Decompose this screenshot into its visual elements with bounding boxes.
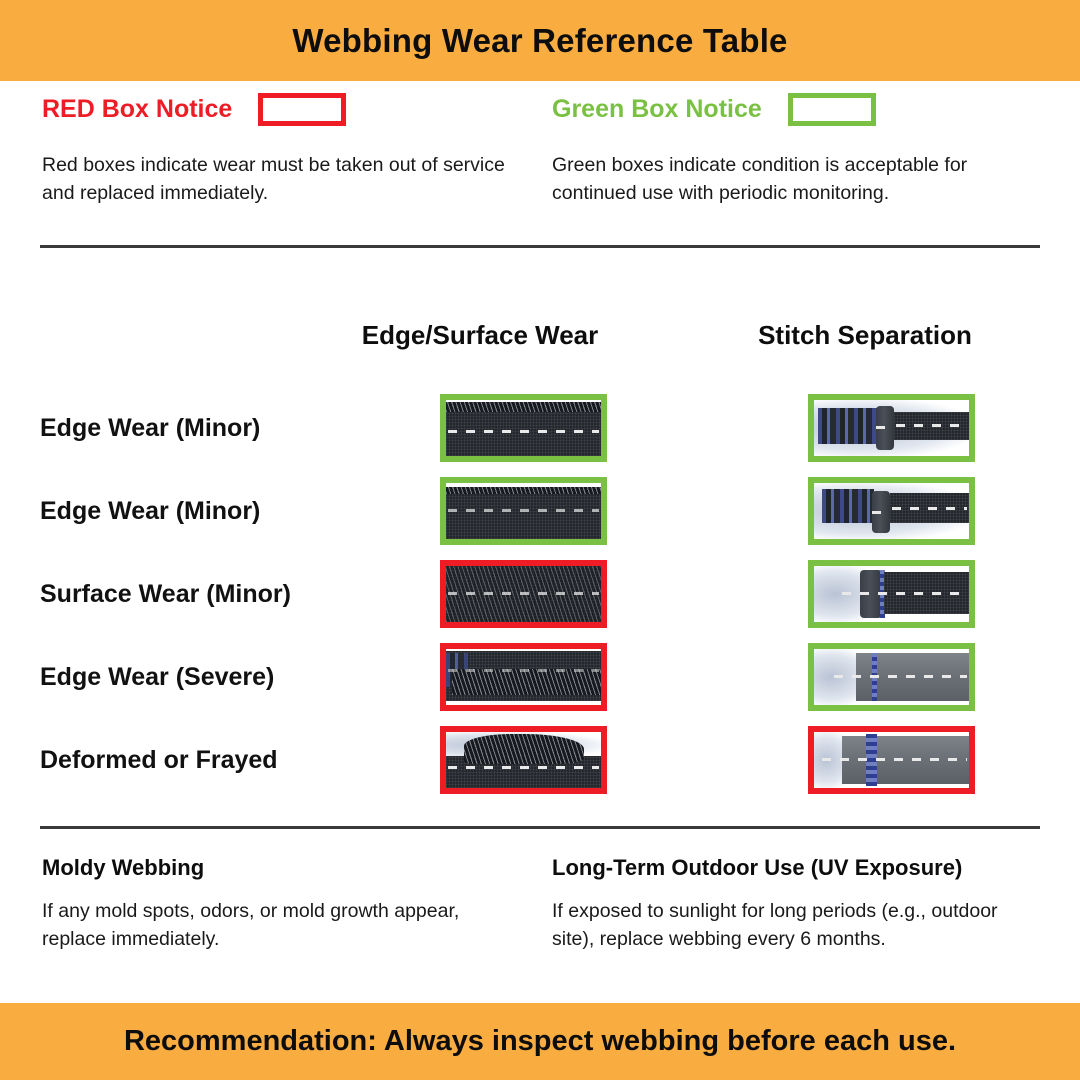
row-label: Surface Wear (Minor): [40, 560, 291, 628]
recommendation-text: Recommendation: Always inspect webbing b…: [124, 1025, 956, 1058]
note-title: Long-Term Outdoor Use (UV Exposure): [552, 855, 1012, 881]
webbing-stitch-folded-strap-photo: [808, 477, 975, 545]
footer-banner: Recommendation: Always inspect webbing b…: [0, 1003, 1080, 1080]
webbing-stitch-folded-strap-photo: [808, 394, 975, 462]
webbing-stitch-intact-photo: [808, 560, 975, 628]
legend-red-heading-row: RED Box Notice: [42, 81, 522, 137]
note-title: Moldy Webbing: [42, 855, 502, 881]
webbing-edge-wear-severe-photo: [440, 643, 607, 711]
column-header-stitch-separation: Stitch Separation: [700, 320, 1030, 351]
legend-green-heading-row: Green Box Notice: [552, 81, 1032, 137]
note-moldy-webbing: Moldy Webbing If any mold spots, odors, …: [42, 855, 502, 954]
row-label: Edge Wear (Minor): [40, 477, 260, 545]
row-label: Edge Wear (Severe): [40, 643, 274, 711]
webbing-stitch-intact-photo: [808, 643, 975, 711]
table-row: Deformed or Frayed: [0, 726, 1080, 794]
webbing-deformed-frayed-photo: [440, 726, 607, 794]
green-box-swatch: [788, 93, 876, 126]
legend-red-label: RED Box Notice: [42, 95, 232, 124]
table-row: Edge Wear (Severe): [0, 643, 1080, 711]
header-banner: Webbing Wear Reference Table: [0, 0, 1080, 81]
divider-bottom: [40, 826, 1040, 829]
table-row: Edge Wear (Minor): [0, 477, 1080, 545]
legend-red-notice: RED Box Notice Red boxes indicate wear m…: [42, 81, 522, 207]
red-box-swatch: [258, 93, 346, 126]
legend-section: RED Box Notice Red boxes indicate wear m…: [0, 81, 1080, 246]
note-body: If any mold spots, odors, or mold growth…: [42, 897, 492, 954]
webbing-stitch-broken-photo: [808, 726, 975, 794]
legend-green-notice: Green Box Notice Green boxes indicate co…: [552, 81, 1032, 207]
note-body: If exposed to sunlight for long periods …: [552, 897, 1002, 954]
row-label: Edge Wear (Minor): [40, 394, 260, 462]
legend-green-label: Green Box Notice: [552, 95, 762, 124]
legend-green-description: Green boxes indicate condition is accept…: [552, 152, 1022, 207]
row-label: Deformed or Frayed: [40, 726, 278, 794]
legend-red-description: Red boxes indicate wear must be taken ou…: [42, 152, 512, 207]
note-uv-exposure: Long-Term Outdoor Use (UV Exposure) If e…: [552, 855, 1012, 954]
table-row: Edge Wear (Minor): [0, 394, 1080, 462]
webbing-edge-wear-minor-photo: [440, 394, 607, 462]
column-header-edge-surface-wear: Edge/Surface Wear: [340, 320, 620, 351]
webbing-edge-fuzz-photo: [440, 477, 607, 545]
divider-top: [40, 245, 1040, 248]
table-row: Surface Wear (Minor): [0, 560, 1080, 628]
page-title: Webbing Wear Reference Table: [292, 22, 787, 60]
webbing-surface-abrasion-photo: [440, 560, 607, 628]
